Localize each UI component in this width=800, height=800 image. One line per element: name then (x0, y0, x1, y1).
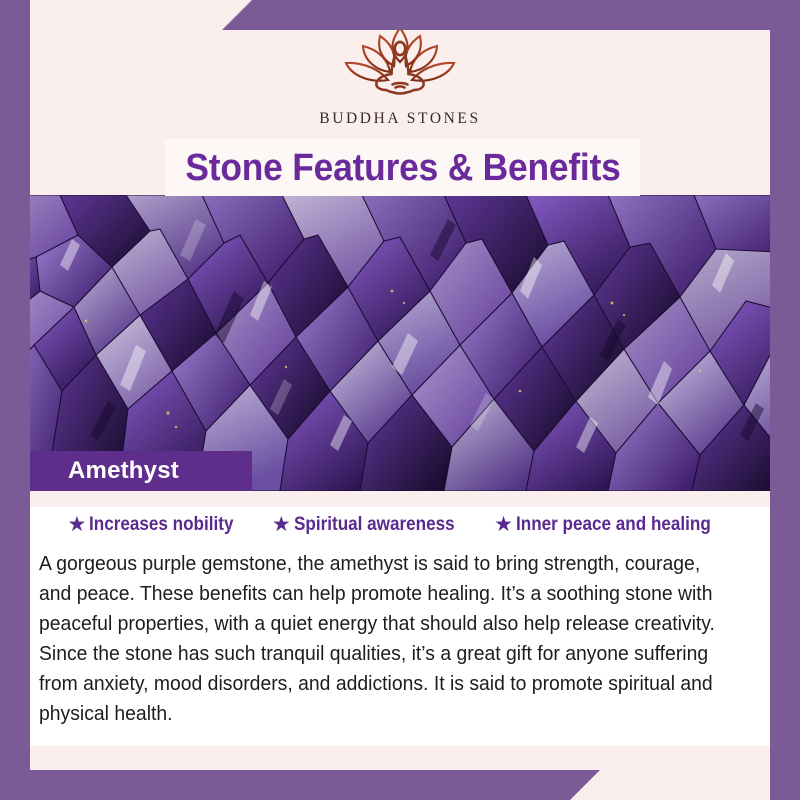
lotus-meditation-icon (336, 22, 464, 106)
brand-logo: BUDDHA STONES (319, 22, 480, 128)
stone-name-banner: Amethyst (30, 451, 252, 491)
star-icon: ★ (494, 514, 513, 535)
feature-label: Spiritual awareness (294, 515, 455, 534)
feature-item: ★ Spiritual awareness (272, 514, 472, 535)
stone-description: A gorgeous purple gemstone, the amethyst… (39, 549, 729, 729)
star-icon: ★ (68, 514, 87, 535)
frame-left-band (0, 0, 30, 800)
product-infographic: BUDDHA STONES Stone Features & Benefits (0, 0, 800, 800)
amethyst-photo (0, 195, 800, 491)
frame-right-band (770, 0, 800, 800)
content-panel: ★ Increases nobility ★ Spiritual awarene… (30, 491, 770, 746)
brand-name: BUDDHA STONES (319, 110, 480, 128)
feature-list: ★ Increases nobility ★ Spiritual awarene… (30, 514, 770, 535)
frame-top-band (222, 0, 800, 30)
frame-bottom-band (0, 770, 600, 800)
crystal-cluster-graphic (0, 195, 800, 491)
feature-item: ★ Increases nobility (68, 514, 250, 535)
panel-bottom-strip (30, 746, 770, 770)
stone-name: Amethyst (68, 459, 179, 483)
panel-top-strip (30, 491, 770, 507)
feature-item: ★ Inner peace and healing (494, 514, 732, 535)
title-band: Stone Features & Benefits (165, 139, 640, 196)
star-icon: ★ (272, 514, 291, 535)
feature-label: Inner peace and healing (516, 515, 711, 534)
page-title: Stone Features & Benefits (185, 149, 620, 187)
feature-label: Increases nobility (89, 515, 233, 534)
